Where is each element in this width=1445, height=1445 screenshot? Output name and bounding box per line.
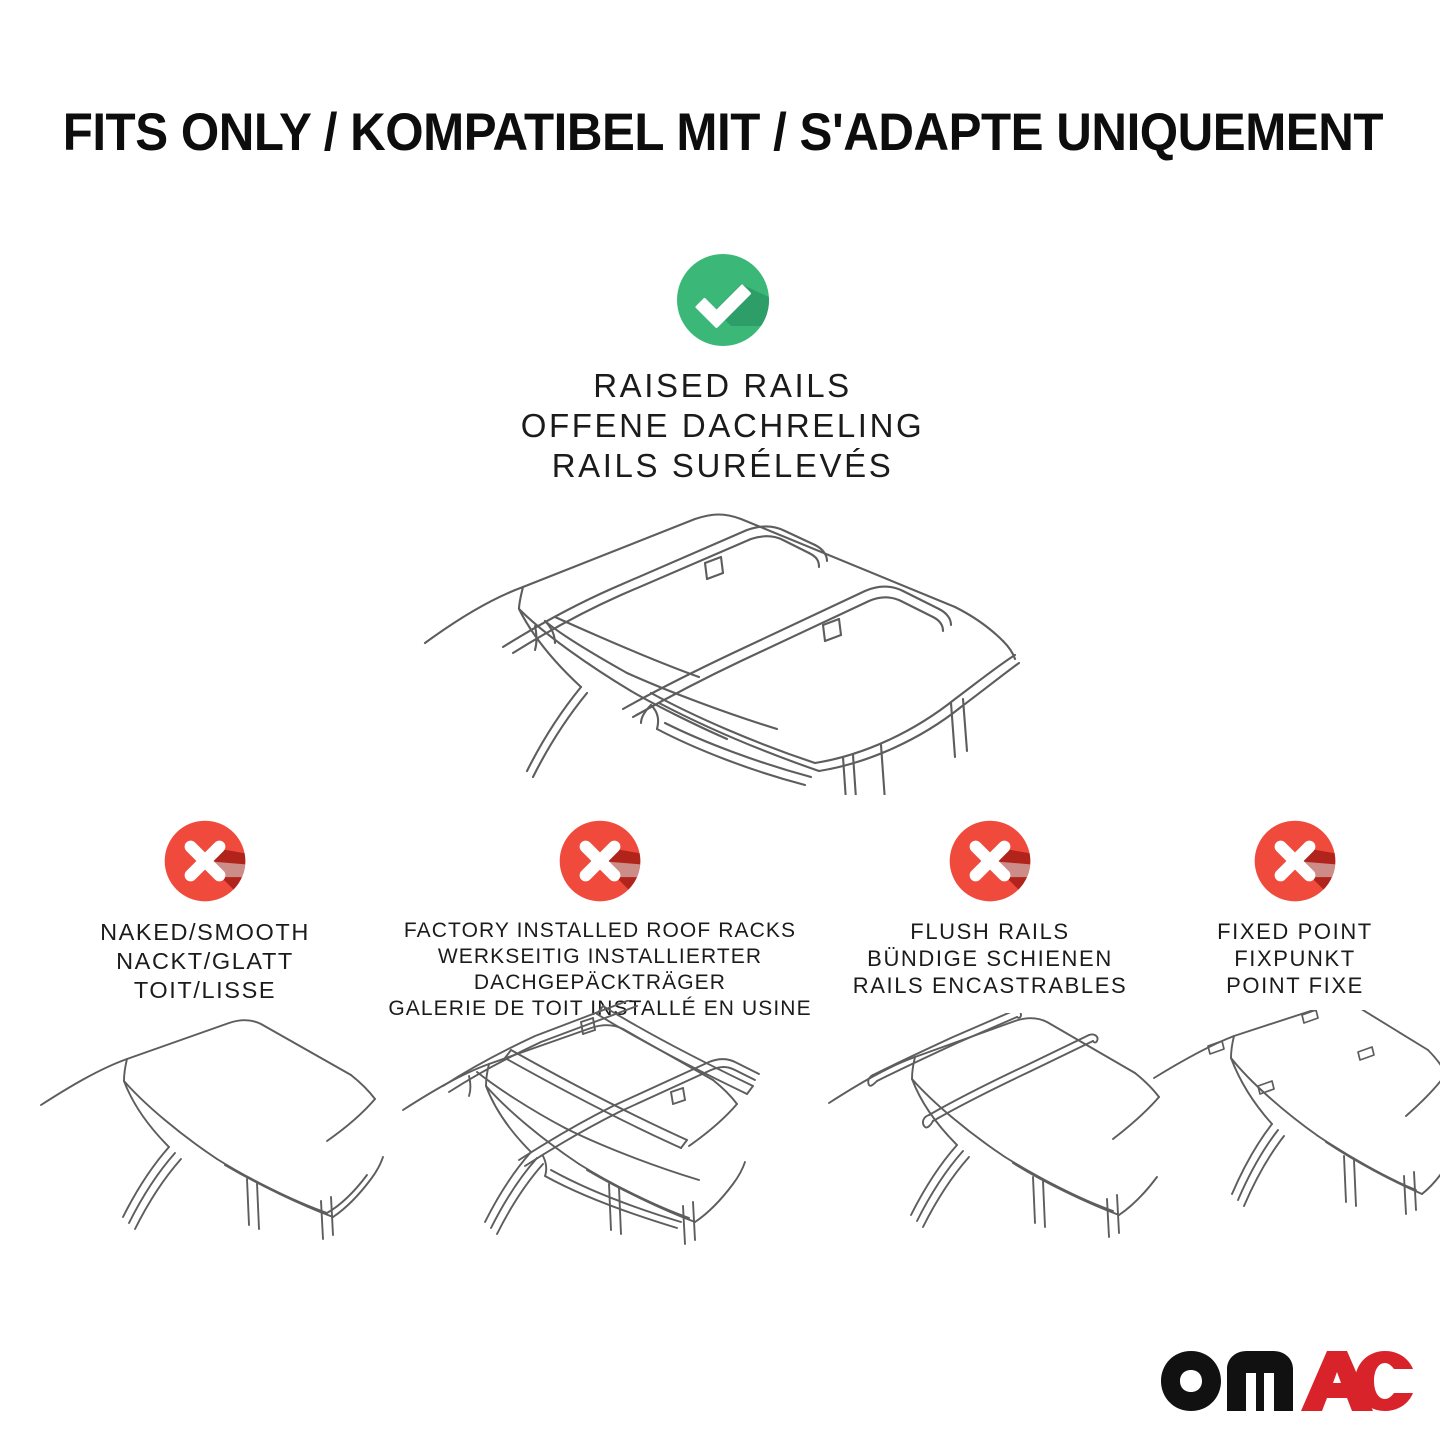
caption-line-fr: RAILS ENCASTRABLES [815,972,1165,999]
compatible-section: RAISED RAILS OFFENE DACHRELING RAILS SUR… [0,252,1445,486]
car-roof-with-factory-crossbars-illustration [385,1000,815,1248]
column-caption: FIXED POINT FIXPUNKT POINT FIXE [1150,918,1440,999]
cross-circle-icon [947,818,1033,904]
car-roof-with-raised-rails-illustration [395,495,1055,795]
compatible-caption: RAISED RAILS OFFENE DACHRELING RAILS SUR… [0,366,1445,486]
car-roof-with-flush-rails-illustration [815,1013,1165,1248]
check-circle-icon [675,252,771,348]
incompatible-column-fixed-point: FIXED POINT FIXPUNKT POINT FIXE [1150,818,1440,999]
page-title-text: FITS ONLY / KOMPATIBEL MIT / S'ADAPTE UN… [62,104,1382,162]
compatible-label-de: OFFENE DACHRELING [0,406,1445,446]
caption-line-de-2: DACHGEPÄCKTRÄGER [385,970,815,996]
incompatible-section: NAKED/SMOOTH NACKT/GLATT TOIT/LISSE [0,818,1445,1268]
caption-line-de: BÜNDIGE SCHIENEN [815,945,1165,972]
caption-line-en: FIXED POINT [1150,918,1440,945]
caption-line-de-1: WERKSEITIG INSTALLIERTER [385,944,815,970]
car-roof-bare-illustration [25,1013,385,1248]
cross-circle-icon [557,818,643,904]
car-roof-with-fixed-points-illustration [1150,1010,1440,1248]
compatible-label-en: RAISED RAILS [0,366,1445,406]
caption-line-en: FLUSH RAILS [815,918,1165,945]
caption-line-fr: TOIT/LISSE [25,976,385,1005]
caption-line-de: NACKT/GLATT [25,947,385,976]
caption-line-en: NAKED/SMOOTH [25,918,385,947]
brand-logo-omac [1157,1345,1417,1417]
caption-line-fr: POINT FIXE [1150,972,1440,999]
cross-circle-icon [1252,818,1338,904]
column-caption: NAKED/SMOOTH NACKT/GLATT TOIT/LISSE [25,918,385,1005]
incompatible-column-flush-rails: FLUSH RAILS BÜNDIGE SCHIENEN RAILS ENCAS… [815,818,1165,999]
incompatible-column-factory-roof-racks: FACTORY INSTALLED ROOF RACKS WERKSEITIG … [385,818,815,1022]
compatible-label-fr: RAILS SURÉLEVÉS [0,446,1445,486]
page-title: FITS ONLY / KOMPATIBEL MIT / S'ADAPTE UN… [0,104,1445,162]
caption-line-de: FIXPUNKT [1150,945,1440,972]
cross-circle-icon [162,818,248,904]
incompatible-column-naked-smooth: NAKED/SMOOTH NACKT/GLATT TOIT/LISSE [25,818,385,1005]
column-caption: FLUSH RAILS BÜNDIGE SCHIENEN RAILS ENCAS… [815,918,1165,999]
caption-line-en: FACTORY INSTALLED ROOF RACKS [385,918,815,944]
